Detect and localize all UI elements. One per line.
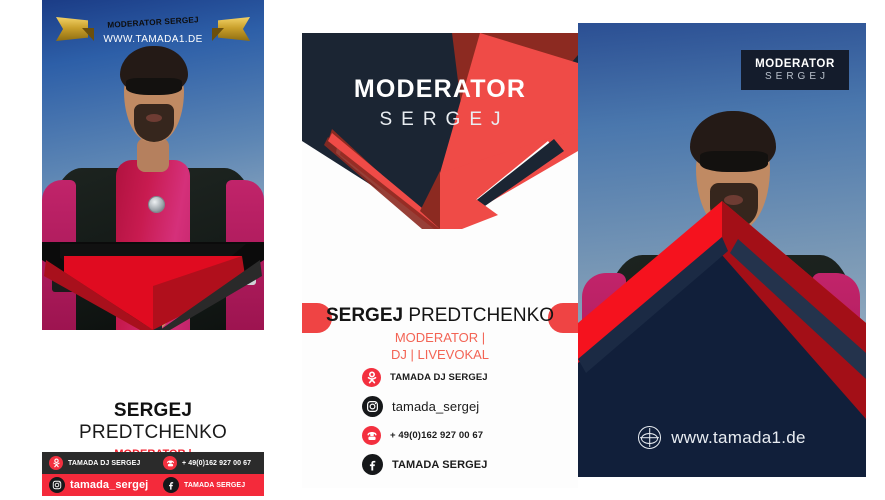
instagram-icon <box>362 396 383 417</box>
ribbon-website: WWW.TAMADA1.DE <box>42 34 264 45</box>
middle-card-roles: MODERATOR | DJ | LIVEVOKAL <box>302 329 578 363</box>
contact-item-facebook[interactable]: TAMADA SERGEJ <box>362 450 488 479</box>
left-card-contact-bars: TAMADA DJ SERGEJ + 49(0)162 927 00 67 <box>42 452 264 496</box>
title-sergej: SERGEJ <box>302 109 578 131</box>
left-chevron-graphic <box>42 242 264 330</box>
middle-business-card: MODERATOR SERGEJ SERGEJ PREDTCHENKO MODE… <box>302 33 578 488</box>
middle-card-title: MODERATOR SERGEJ <box>302 75 578 131</box>
contact-item-facebook[interactable]: TAMADA SERGEJ <box>156 477 264 493</box>
left-card-last-name: PREDTCHENKO <box>79 422 227 443</box>
facebook-icon <box>163 477 179 493</box>
left-card-photo: MODERATOR SERGEJ WWW.TAMADA1.DE <box>42 0 264 330</box>
globe-icon <box>638 426 661 449</box>
middle-card-last-name: PREDTCHENKO <box>403 305 554 326</box>
middle-card-role-line-2: DJ | LIVEVOKAL <box>302 346 578 363</box>
middle-card-name: SERGEJ PREDTCHENKO <box>302 305 578 327</box>
right-card-photo <box>578 23 866 477</box>
contact-label: + 49(0)162 927 00 67 <box>182 460 251 467</box>
contact-label: TAMADA SERGEJ <box>184 482 245 489</box>
middle-card-role-line-1: MODERATOR | <box>302 329 578 346</box>
contact-item-phone[interactable]: + 49(0)162 927 00 67 <box>362 421 488 450</box>
contact-item-phone[interactable]: + 49(0)162 927 00 67 <box>156 456 264 470</box>
contact-item-odnoklassniki[interactable]: TAMADA DJ SERGEJ <box>42 456 156 470</box>
odnoklassniki-icon <box>362 368 381 387</box>
instagram-icon <box>49 477 65 493</box>
badge-moderator: MODERATOR <box>755 58 835 70</box>
right-poster-card: MODERATOR SERGEJ www.tamada1.de <box>578 23 866 477</box>
middle-card-name-block: SERGEJ PREDTCHENKO MODERATOR | DJ | LIVE… <box>302 305 578 363</box>
title-moderator: MODERATOR <box>302 75 578 104</box>
contact-bar-red: tamada_sergej TAMADA SERGEJ <box>42 474 264 496</box>
contact-label: TAMADA SERGEJ <box>392 459 487 471</box>
poster-collage: MODERATOR SERGEJ WWW.TAMADA1.DE SERGEJ P… <box>0 0 885 500</box>
website-label: www.tamada1.de <box>671 428 806 448</box>
contact-label: + 49(0)162 927 00 67 <box>390 430 483 441</box>
ribbon-label: MODERATOR SERGEJ <box>79 7 226 38</box>
middle-card-header-graphic: MODERATOR SERGEJ <box>302 33 578 233</box>
phone-icon <box>163 456 177 470</box>
contact-label: tamada_sergej <box>70 479 148 491</box>
right-chevron-graphic <box>578 23 866 477</box>
left-flyer-card: MODERATOR SERGEJ WWW.TAMADA1.DE SERGEJ P… <box>42 0 264 500</box>
middle-card-contact-list: TAMADA DJ SERGEJ tamada_sergej <box>362 363 488 479</box>
left-card-first-name: SERGEJ <box>114 400 192 421</box>
header-chevron-shape <box>302 33 578 233</box>
contact-item-instagram[interactable]: tamada_sergej <box>42 477 156 493</box>
middle-card-first-name: SERGEJ <box>326 305 403 326</box>
right-card-website-row[interactable]: www.tamada1.de <box>578 426 866 449</box>
contact-label: tamada_sergej <box>392 399 479 414</box>
contact-item-instagram[interactable]: tamada_sergej <box>362 392 488 421</box>
contact-label: TAMADA DJ SERGEJ <box>390 372 488 383</box>
left-card-name: SERGEJ PREDTCHENKO <box>42 400 264 444</box>
right-card-badge: MODERATOR SERGEJ <box>741 50 849 90</box>
phone-icon <box>362 426 381 445</box>
contact-item-odnoklassniki[interactable]: TAMADA DJ SERGEJ <box>362 363 488 392</box>
facebook-icon <box>362 454 383 475</box>
contact-bar-dark: TAMADA DJ SERGEJ + 49(0)162 927 00 67 <box>42 452 264 474</box>
contact-label: TAMADA DJ SERGEJ <box>68 460 140 467</box>
odnoklassniki-icon <box>49 456 63 470</box>
badge-sergej: SERGEJ <box>761 71 829 82</box>
chevron-shape <box>42 242 264 330</box>
